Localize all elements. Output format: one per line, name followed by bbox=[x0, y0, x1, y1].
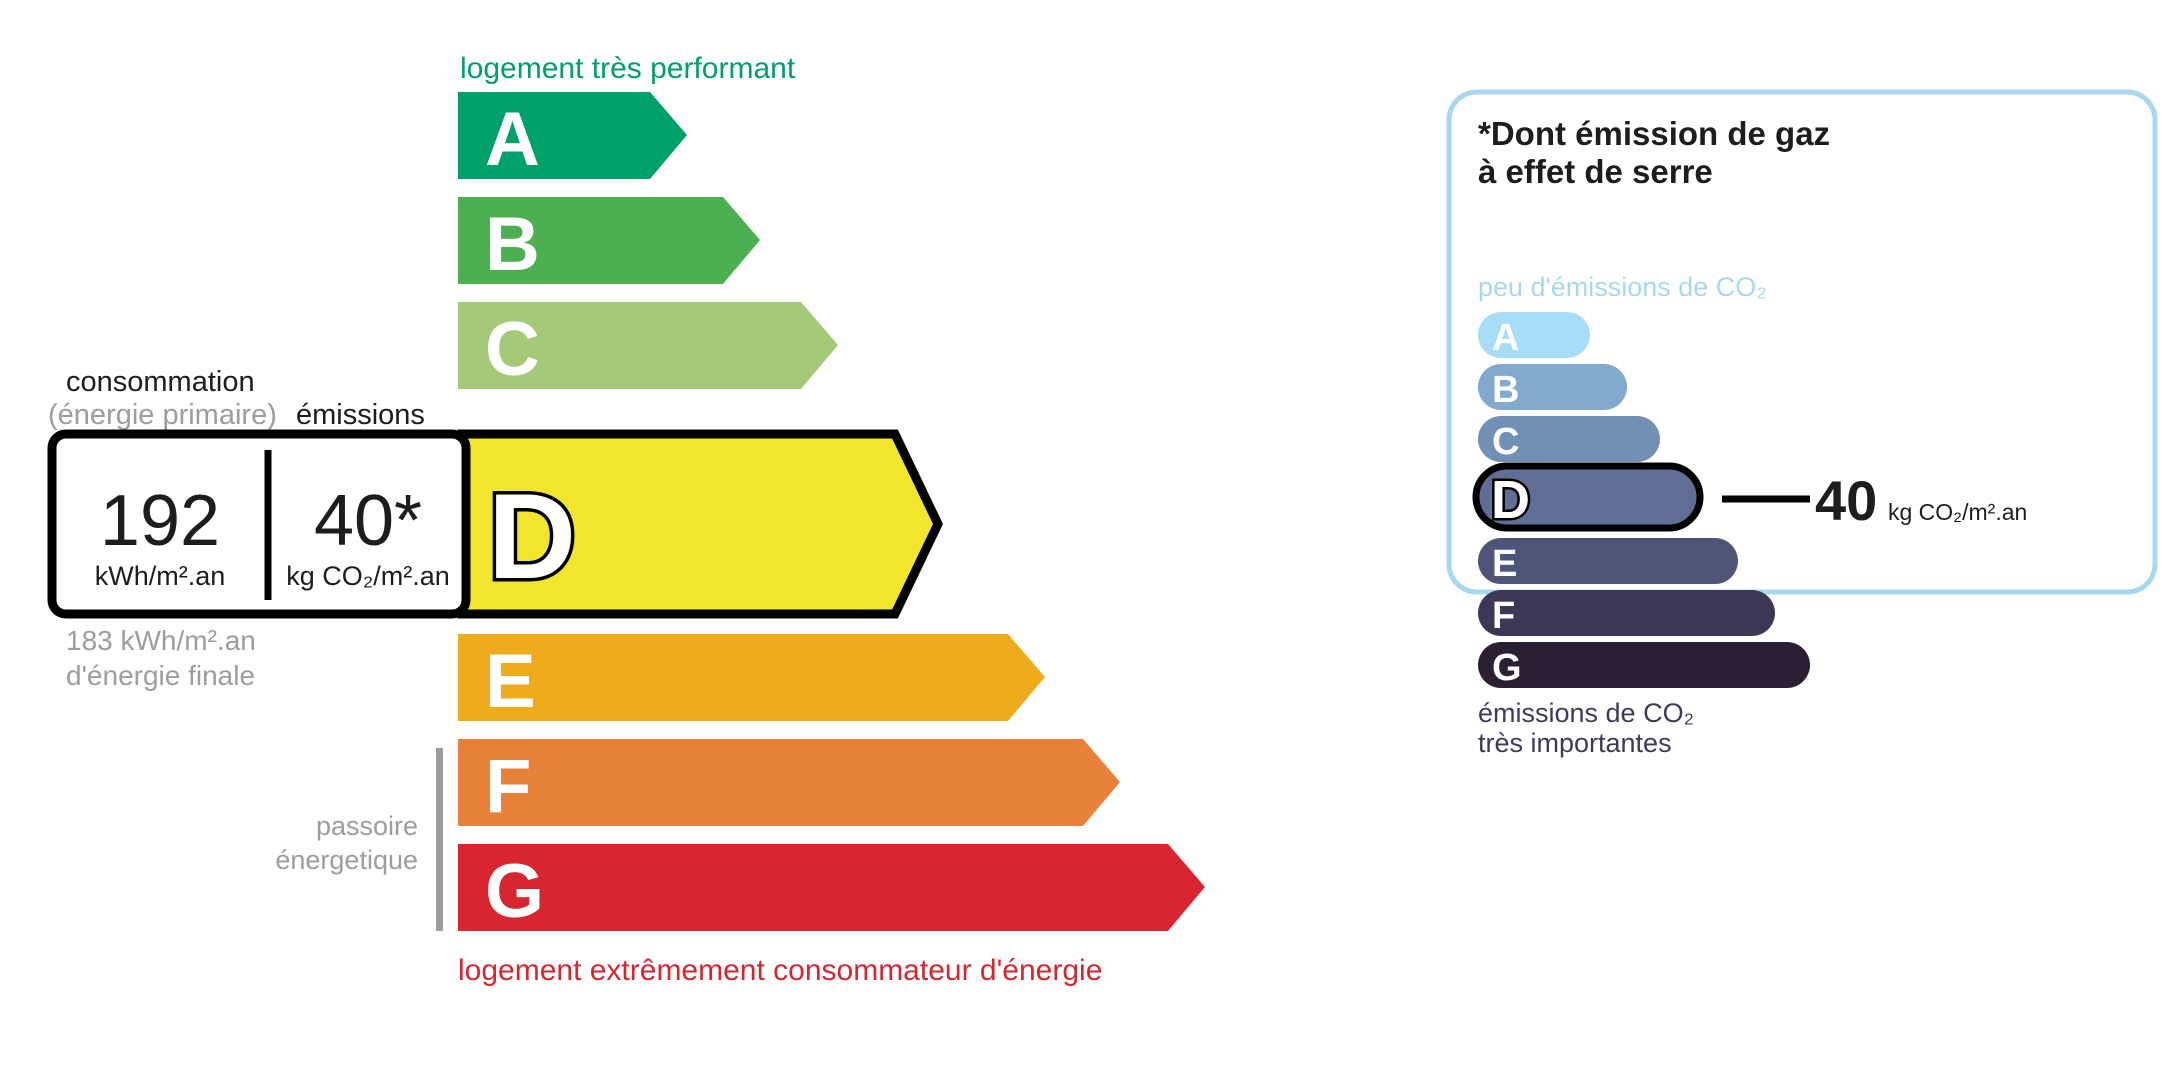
co2-letter-a: A bbox=[1492, 317, 1519, 359]
passoire-label-line2: énergetique bbox=[275, 845, 418, 875]
dpe-svg-canvas: logement très performant A B C D E bbox=[0, 0, 2169, 1079]
passoire-label-line1: passoire bbox=[316, 811, 418, 841]
consumption-unit: kWh/m².an bbox=[95, 561, 226, 591]
passoire-vertical-bar bbox=[436, 748, 443, 931]
consumption-value: 192 bbox=[100, 481, 220, 561]
energy-letter-b: B bbox=[485, 202, 540, 287]
co2-bar-f bbox=[1478, 590, 1775, 636]
energy-arrow-g bbox=[458, 844, 1205, 931]
energy-letter-g: G bbox=[485, 849, 544, 934]
dpe-diagram: logement très performant A B C D E bbox=[0, 0, 2169, 1079]
co2-top-caption: peu d'émissions de CO₂ bbox=[1478, 272, 1767, 302]
energy-arrow-f bbox=[458, 739, 1120, 826]
energy-row-a[interactable]: A bbox=[458, 92, 687, 182]
co2-callout-unit: kg CO₂/m².an bbox=[1888, 499, 2027, 525]
energy-letter-e: E bbox=[485, 639, 536, 724]
co2-letter-f: F bbox=[1492, 595, 1515, 637]
co2-bottom-caption-line1: émissions de CO₂ bbox=[1478, 698, 1694, 728]
co2-callout-value: 40 bbox=[1815, 469, 1877, 532]
co2-bottom-caption-line2: très importantes bbox=[1478, 728, 1672, 758]
emissions-unit: kg CO₂/m².an bbox=[286, 561, 450, 591]
co2-letter-g: G bbox=[1492, 647, 1522, 689]
energy-row-g[interactable]: G bbox=[458, 844, 1205, 934]
energy-letter-f: F bbox=[485, 744, 531, 829]
co2-row-a[interactable]: A bbox=[1478, 312, 1590, 359]
energy-letter-a: A bbox=[485, 97, 540, 182]
energy-letter-d: D bbox=[488, 468, 576, 604]
energy-row-b[interactable]: B bbox=[458, 197, 760, 287]
consumption-label-line2: (énergie primaire) bbox=[48, 399, 277, 431]
final-energy-line2: d'énergie finale bbox=[66, 660, 255, 691]
co2-letter-c: C bbox=[1492, 421, 1519, 463]
energy-row-f[interactable]: F bbox=[458, 739, 1120, 829]
co2-letter-e: E bbox=[1492, 543, 1517, 585]
co2-letter-d: D bbox=[1491, 470, 1530, 530]
energy-row-e[interactable]: E bbox=[458, 634, 1045, 724]
co2-letter-b: B bbox=[1492, 369, 1519, 411]
energy-row-d[interactable]: D bbox=[462, 434, 938, 614]
co2-bar-g bbox=[1478, 642, 1810, 688]
co2-row-c[interactable]: C bbox=[1478, 416, 1660, 463]
final-energy-line1: 183 kWh/m².an bbox=[66, 625, 256, 656]
energy-bottom-caption: logement extrêmement consommateur d'éner… bbox=[458, 954, 1102, 987]
co2-title-line1: *Dont émission de gaz bbox=[1478, 115, 1830, 152]
co2-title-line2: à effet de serre bbox=[1478, 153, 1713, 190]
co2-row-b[interactable]: B bbox=[1478, 364, 1627, 411]
energy-top-caption: logement très performant bbox=[460, 52, 796, 85]
consumption-label-line1: consommation bbox=[66, 366, 255, 398]
energy-letter-c: C bbox=[485, 307, 540, 392]
co2-row-e[interactable]: E bbox=[1478, 538, 1738, 585]
co2-row-f[interactable]: F bbox=[1478, 590, 1775, 637]
emissions-value: 40* bbox=[314, 481, 422, 561]
energy-row-c[interactable]: C bbox=[458, 302, 838, 392]
energy-arrow-e bbox=[458, 634, 1045, 721]
emissions-label: émissions bbox=[296, 399, 425, 431]
co2-row-g[interactable]: G bbox=[1478, 642, 1810, 689]
summary-box: 192 kWh/m².an 40* kg CO₂/m².an bbox=[52, 434, 466, 614]
